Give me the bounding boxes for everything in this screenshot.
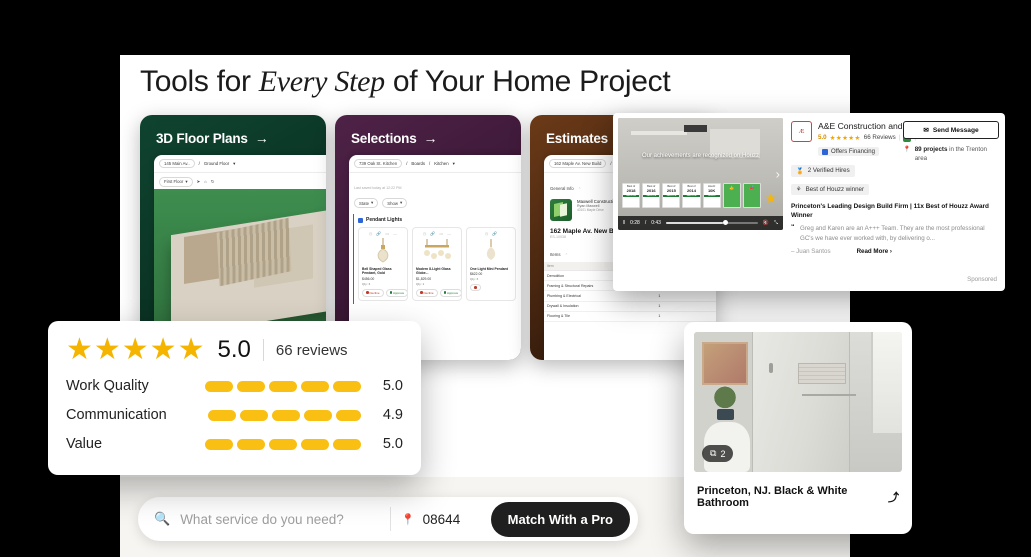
breadcrumb-project-chip[interactable]: 739 Oak St. Kitchen <box>354 159 402 168</box>
match-with-a-pro-button[interactable]: Match With a Pro <box>491 502 630 537</box>
selections-section: Pendant Lights ◷🔗▭— Bell Shaped Glass Pe… <box>353 214 521 304</box>
video-progress-bar[interactable] <box>666 222 758 224</box>
photo-wall-art <box>702 342 748 385</box>
badge-year: 10K <box>704 188 720 193</box>
rating-row-work-quality: Work Quality 5.0 <box>66 378 403 394</box>
company-logo-icon <box>550 199 572 221</box>
award-badge: Best of2018SERVICE <box>622 183 640 208</box>
cell-qty: 1 <box>655 311 679 321</box>
breadcrumb-room-label[interactable]: Kitchen <box>434 161 448 166</box>
search-divider <box>390 507 391 531</box>
table-row[interactable]: Flooring & Tile1$12,350.00 <box>544 311 716 321</box>
chevron-down-icon: ▾ <box>185 179 187 185</box>
share-icon[interactable]: ⤴ <box>888 489 899 505</box>
rating-bars <box>205 439 361 450</box>
overall-stars-icon: ★★★★★ <box>66 335 205 365</box>
quote-text: Greg and Karen are an A+++ Team. They ar… <box>800 225 985 242</box>
cell-unit <box>679 301 705 311</box>
award-badge: Best of2016SERVICE <box>642 183 660 208</box>
offers-financing-badge: Offers Financing <box>818 147 879 156</box>
decline-button[interactable]: Decline <box>362 289 384 297</box>
comment-icon[interactable]: ▭ <box>385 231 389 236</box>
cursor-tool-icon[interactable]: ➤ <box>197 179 201 185</box>
cell-subtotal: $11,800.00 <box>705 291 716 301</box>
breadcrumb-project-label: 162 Maple Av. New Build <box>554 161 601 166</box>
video-controls[interactable]: ‖ 0:28 / 0:43 🔇 ⤡ <box>618 216 783 230</box>
selections-filter-row: State ▾ Show ▾ Add a Section <box>349 194 521 212</box>
award-badge-thumbsup: 👍 <box>723 183 741 208</box>
video-decor-shelf <box>631 131 687 135</box>
video-overlay-text: Our achievements are recognized on Houzz <box>618 152 783 161</box>
photo-shower-head <box>769 363 773 373</box>
star-badge-icon: ★ <box>763 188 779 208</box>
rating-row-communication: Communication 4.9 <box>66 407 403 423</box>
product-buttons: Decline Approve <box>359 287 407 299</box>
award-badge-row: Best of2018SERVICE Best of2016SERVICE Be… <box>618 183 783 208</box>
general-info-label: General Info <box>550 186 574 191</box>
tool-card-label-floor-plans: 3D Floor Plans <box>156 131 248 146</box>
verified-hires-badge: 🏅 2 Verified Hires <box>791 165 855 177</box>
badge-foot: SERVICE <box>623 195 639 197</box>
financing-icon <box>822 149 828 155</box>
more-icon[interactable]: — <box>393 231 397 236</box>
page-title: Tools for Every Step of Your Home Projec… <box>140 65 840 99</box>
rating-label: Work Quality <box>66 378 205 394</box>
page-background: Tools for Every Step of Your Home Projec… <box>0 0 1031 557</box>
photo-tile-niche <box>798 363 846 385</box>
approve-button[interactable]: Approve <box>386 289 408 297</box>
pro-logo-icon: Æ <box>791 121 812 142</box>
product-actions: ◷🔗▭— <box>413 228 461 236</box>
thumbs-up-icon: 👍 <box>724 185 740 190</box>
quote-mark-icon: “ <box>791 223 795 234</box>
reviews-count-label[interactable]: 66 Reviews <box>864 134 896 141</box>
reviews-summary-card: ★★★★★ 5.0 66 reviews Work Quality 5.0 Co… <box>48 321 421 475</box>
rating-bars <box>205 381 361 392</box>
pause-icon[interactable]: ‖ <box>623 220 625 226</box>
badge-year: 2016 <box>643 188 659 193</box>
badge-foot: SERVICE <box>643 195 659 197</box>
best-of-houzz-badge: ⚘ Best of Houzz winner <box>791 184 869 195</box>
read-more-link[interactable]: Read More › <box>857 248 892 255</box>
table-row[interactable]: Plumbing & Electrical1$11,800.00 <box>544 291 716 301</box>
selections-saved-row: Last saved today at 12:22 PM <box>349 173 521 194</box>
pro-actions: ✉ Send Message 📍 89 projects in the Tren… <box>903 121 999 164</box>
projects-count-row: 📍 89 projects in the Trenton area <box>903 146 999 164</box>
award-badge-saves: Houzz10KSAVES <box>703 183 721 208</box>
photo-caption: Princeton, NJ. Black & White Bathroom <box>697 485 888 509</box>
search-icon: 🔍 <box>154 511 170 527</box>
pro-review-quote: “ Greg and Karen are an A+++ Team. They … <box>791 224 997 243</box>
breadcrumb-project-label: 739 Oak St. Kitchen <box>359 161 397 166</box>
table-row[interactable]: Drywall & Insulation1$8,600.00 <box>544 301 716 311</box>
section-color-swatch <box>358 218 363 223</box>
rating-stars-icon: ★★★★★ <box>830 134 861 142</box>
houzz-pro-card[interactable]: Our achievements are recognized on Houzz… <box>613 113 1005 291</box>
breadcrumb-separator: / <box>610 161 611 166</box>
verified-hires-icon: 🏅 <box>796 167 804 175</box>
clock-icon[interactable]: ◷ <box>369 231 373 236</box>
reviews-header: ★★★★★ 5.0 66 reviews <box>66 335 403 365</box>
cell-subtotal: $8,600.00 <box>705 301 716 311</box>
send-message-button[interactable]: ✉ Send Message <box>903 121 999 139</box>
link-icon[interactable]: 🔗 <box>430 231 435 236</box>
product-image <box>413 236 461 266</box>
reviews-divider <box>263 339 264 361</box>
product-name: Modern 8-Light Glass Globe... <box>413 266 461 277</box>
filter-show-label: Show <box>387 201 398 206</box>
next-slide-icon[interactable]: › <box>776 167 780 182</box>
rating-label: Communication <box>66 407 208 423</box>
breadcrumb-project-label: 145 Main Av.. <box>164 161 190 166</box>
rating-bars <box>208 410 361 421</box>
photo-plant-pot <box>717 409 734 420</box>
arrow-right-icon: → <box>255 130 269 146</box>
filter-state-label: State <box>359 201 369 206</box>
rating-value: 5.0 <box>383 378 403 394</box>
product-buttons <box>467 282 515 293</box>
photo-count-value: 2 <box>720 449 725 459</box>
rotate-tool-icon[interactable]: ↻ <box>211 179 215 185</box>
breadcrumb-project-chip[interactable]: 145 Main Av.. <box>159 159 195 168</box>
collapse-icon[interactable]: ⌃ <box>565 253 568 257</box>
review-author: – Juan Santos <box>791 248 831 255</box>
floor-select-dropdown[interactable]: First Floor ▾ <box>159 177 193 187</box>
product-actions: ◷🔗▭— <box>359 228 407 236</box>
rating-value: 5.0 <box>383 436 403 452</box>
send-message-label: Send Message <box>933 127 979 134</box>
reviews-count[interactable]: 66 reviews <box>276 342 348 359</box>
chevron-down-icon[interactable]: ▾ <box>233 161 235 167</box>
more-icon[interactable]: — <box>447 231 451 236</box>
video-time-separator: / <box>645 220 646 226</box>
offers-financing-label: Offers Financing <box>831 149 875 155</box>
breadcrumb-separator: / <box>199 161 200 166</box>
pro-headline: Princeton's Leading Design Build Firm | … <box>791 202 997 221</box>
award-trophy-icon: ⚘ <box>796 186 802 193</box>
clock-icon[interactable]: ◷ <box>485 231 489 236</box>
pro-review-footer: – Juan Santos Read More › <box>791 248 997 255</box>
mute-icon[interactable]: 🔇 <box>763 220 769 226</box>
decline-label: Decline <box>370 291 380 295</box>
envelope-icon: ✉ <box>923 126 929 134</box>
floor-select-label: First Floor <box>164 179 183 184</box>
rating-row-value: Value 5.0 <box>66 436 403 452</box>
cell-subtotal: $12,350.00 <box>705 311 716 321</box>
fullscreen-icon[interactable]: ⤡ <box>774 220 778 226</box>
product-card[interactable]: ◷🔗▭— Bell Shaped Glass Pendant, Gold $45… <box>358 227 408 301</box>
floor-plan-breadcrumb-bar: 145 Main Av.. / Ground Floor ▾ <box>154 155 326 173</box>
photo-shower-enclosure <box>752 332 850 472</box>
arrow-right-icon: → <box>424 130 438 146</box>
photo-count-badge: ⧉ 2 <box>702 445 733 462</box>
sponsored-label: Sponsored <box>967 276 997 283</box>
section-title: Pendant Lights <box>366 217 402 223</box>
cell-item: Flooring & Tile <box>544 311 655 321</box>
approve-label: Approve <box>393 291 404 295</box>
project-photo[interactable]: ⧉ 2 <box>694 332 902 472</box>
page-title-lead: Tools for <box>140 65 259 98</box>
page-title-tail: of Your Home Project <box>385 65 671 98</box>
video-time-total: 0:43 <box>651 220 661 226</box>
filter-show-dropdown[interactable]: Show ▾ <box>382 198 407 208</box>
clock-icon[interactable]: ◷ <box>423 231 427 236</box>
company-address: 40101 Maple Drive <box>577 208 618 212</box>
link-icon[interactable]: 🔗 <box>376 231 381 236</box>
breadcrumb-boards-label[interactable]: Boards <box>411 161 425 166</box>
mini-pendant-icon <box>482 239 500 263</box>
page-title-italic: Every Step <box>259 65 385 98</box>
last-saved-text: Last saved today at 12:22 PM <box>354 186 402 190</box>
pendant-globe-icon <box>419 239 455 263</box>
filter-state-dropdown[interactable]: State ▾ <box>354 198 378 208</box>
product-image <box>359 236 407 266</box>
overall-score: 5.0 <box>217 336 250 364</box>
location-pin-icon: 📍 <box>401 513 415 526</box>
decline-label: Decline <box>424 291 434 295</box>
video-time-current: 0:28 <box>630 220 640 226</box>
badge-foot: SERVICE <box>663 195 679 197</box>
photo-window <box>871 332 902 433</box>
product-card[interactable]: ◷🔗▭— Modern 8-Light Glass Globe... $1,82… <box>412 227 462 301</box>
pro-video-player[interactable]: Our achievements are recognized on Houzz… <box>618 118 783 230</box>
video-decor-monitor <box>684 125 707 132</box>
cell-unit <box>679 311 705 321</box>
product-actions: ◷🔗 <box>467 228 515 236</box>
cell-unit <box>679 291 705 301</box>
award-badge: Best of2014SERVICE <box>682 183 700 208</box>
location-pin-icon: 📍 <box>903 146 911 164</box>
breadcrumb-separator-2: / <box>429 161 430 166</box>
photo-caption-row: Princeton, NJ. Black & White Bathroom ⤴ <box>694 485 902 509</box>
award-badge-megaphone: 📣 <box>743 183 761 208</box>
project-photo-card[interactable]: ⧉ 2 Princeton, NJ. Black & White Bathroo… <box>684 322 912 534</box>
section-title-row: Pendant Lights <box>358 217 521 223</box>
rating-label: Value <box>66 436 205 452</box>
badge-foot: SERVICE <box>683 195 699 197</box>
decline-button[interactable]: Decline <box>416 289 438 297</box>
breadcrumb-separator: / <box>406 161 407 166</box>
badge-foot: SAVES <box>704 195 720 197</box>
cell-qty: 1 <box>655 301 679 311</box>
photo-stack-icon: ⧉ <box>710 448 716 459</box>
verified-hires-label: 2 Verified Hires <box>808 167 850 174</box>
tool-card-label-estimates: Estimates <box>546 131 608 146</box>
chevron-down-icon[interactable]: ▾ <box>453 161 455 167</box>
breadcrumb-project-chip[interactable]: 162 Maple Av. New Build <box>549 159 606 168</box>
product-name: Bell Shaped Glass Pendant, Gold <box>359 266 407 277</box>
badge-year: 2015 <box>663 188 679 193</box>
cell-item: Plumbing & Electrical <box>544 291 655 301</box>
best-of-houzz-label: Best of Houzz winner <box>806 186 864 193</box>
search-bar[interactable]: 🔍 📍 Match With a Pro <box>138 497 638 541</box>
zip-input[interactable] <box>421 511 491 528</box>
collapse-icon[interactable]: ⌃ <box>578 187 581 191</box>
cell-item: Drywall & Insulation <box>544 301 655 311</box>
award-badge: Best of2015SERVICE <box>662 183 680 208</box>
product-image <box>467 236 515 266</box>
product-list: ◷🔗▭— Bell Shaped Glass Pendant, Gold $45… <box>358 227 521 301</box>
comment-icon[interactable]: ▭ <box>439 231 443 236</box>
cell-qty: 1 <box>655 291 679 301</box>
approve-button[interactable]: Approve <box>440 289 462 297</box>
projects-count: 89 projects <box>915 146 948 153</box>
selections-breadcrumb-bar: 739 Oak St. Kitchen / Boards / Kitchen ▾ <box>349 155 521 173</box>
breadcrumb-level-label[interactable]: Ground Floor <box>204 161 229 166</box>
megaphone-icon: 📣 <box>744 185 760 190</box>
tool-card-label-selections: Selections <box>351 131 417 146</box>
decline-button[interactable] <box>470 284 481 291</box>
pendant-bell-icon <box>373 238 393 264</box>
search-input[interactable] <box>178 511 380 528</box>
furniture-tool-icon[interactable]: ⌂ <box>204 179 207 184</box>
product-buttons: Decline Approve <box>413 287 461 299</box>
approve-label: Approve <box>447 291 458 295</box>
items-label: Items <box>550 252 561 257</box>
badge-year: 2018 <box>623 188 639 193</box>
rating-value: 5.0 <box>818 134 827 141</box>
photo-grab-bar <box>802 394 856 396</box>
rating-value: 4.9 <box>383 407 403 423</box>
link-icon[interactable]: 🔗 <box>492 231 497 236</box>
badge-year: 2014 <box>683 188 699 193</box>
product-card[interactable]: ◷🔗 One Light Mini Pendant $622.00 Qty: 3 <box>466 227 516 301</box>
